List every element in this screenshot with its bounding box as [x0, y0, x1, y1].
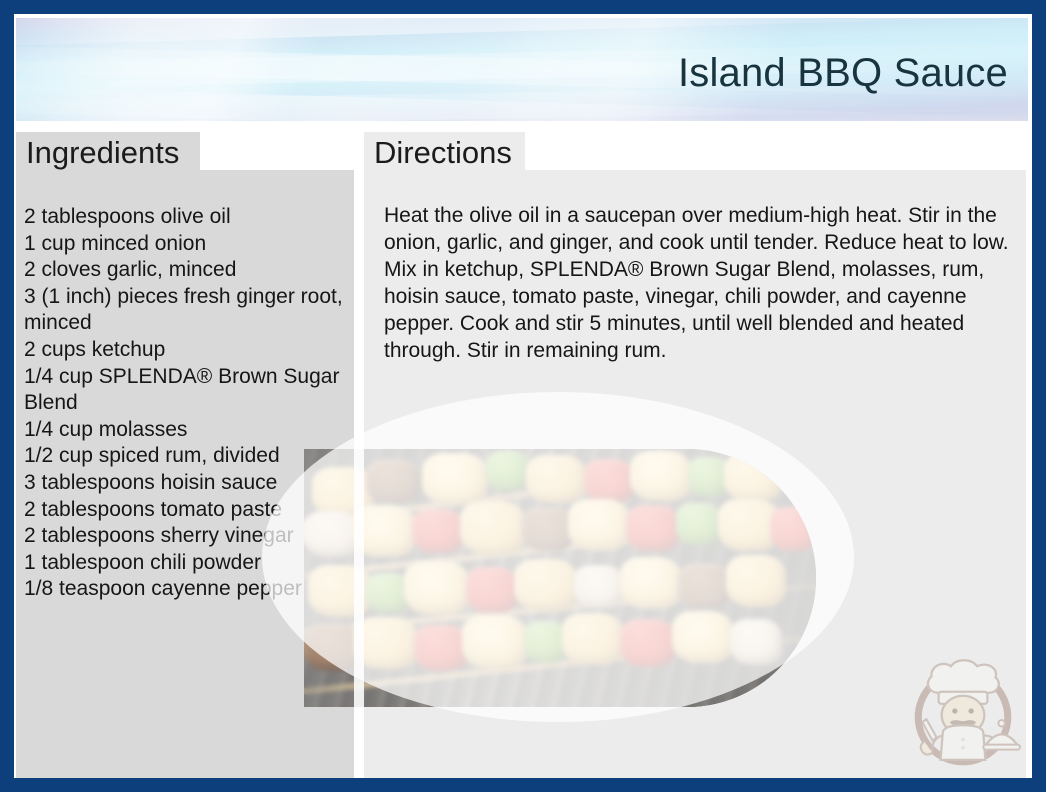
card-inner-page: Island BBQ Sauce Ingredients Directions … [14, 14, 1032, 778]
ingredient-item: 1/4 cup molasses [24, 417, 354, 444]
ingredient-item: 2 cloves garlic, minced [24, 257, 354, 284]
directions-text: Heat the olive oil in a saucepan over me… [384, 202, 1014, 364]
directions-heading: Directions [374, 134, 512, 172]
banner-streak [16, 18, 1028, 48]
recipe-card: Island BBQ Sauce Ingredients Directions … [0, 0, 1046, 792]
title-banner: Island BBQ Sauce [16, 18, 1028, 121]
recipe-title: Island BBQ Sauce [678, 50, 1008, 96]
ingredient-item: 2 tablespoons olive oil [24, 204, 354, 231]
ingredient-item: 2 cups ketchup [24, 337, 354, 364]
ingredients-heading: Ingredients [26, 134, 179, 172]
ingredient-item: 3 (1 inch) pieces fresh ginger root, min… [24, 284, 354, 337]
ingredient-item: 1/4 cup SPLENDA® Brown Sugar Blend [24, 364, 354, 417]
photo-blur [304, 449, 816, 707]
ingredients-header-tab: Ingredients [16, 132, 200, 174]
food-photo [304, 449, 816, 707]
ingredient-item: 1 cup minced onion [24, 231, 354, 258]
directions-header-tab: Directions [364, 132, 525, 174]
